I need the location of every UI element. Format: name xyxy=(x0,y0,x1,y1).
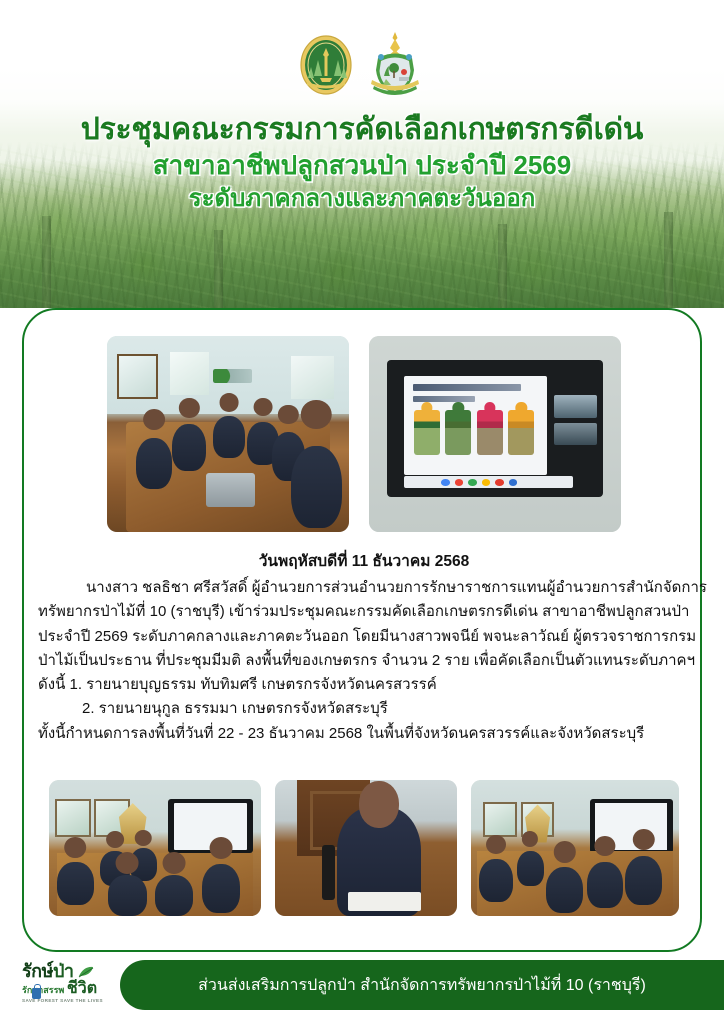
paragraph-line-1: นางสาว ชลธิชา ศรีสวัสดิ์ ผู้อำนวยการส่วน… xyxy=(38,576,690,600)
emblem-group xyxy=(0,30,724,96)
logo-cheewit: ชีวิต xyxy=(67,980,97,997)
list-item-2: 2. รายนายนุกูล ธรรมมา เกษตรกรจังหวัดสระบ… xyxy=(38,697,690,721)
meeting-room-table-photo xyxy=(107,336,349,532)
footer-banner: ส่วนส่งเสริมการปลูกป่า สำนักจัดการทรัพยา… xyxy=(120,960,724,1010)
meeting-wide-left-photo xyxy=(49,780,261,916)
paragraph-line-4: ป่าไม้เป็นประธาน ที่ประชุมมีมติ ลงพื้นที… xyxy=(38,649,690,673)
logo-rak-pa-b: ป่า xyxy=(53,961,74,981)
header-section: ประชุมคณะกรรมการคัดเลือกเกษตรกรดีเด่น สา… xyxy=(0,0,724,308)
page-title-line1: ประชุมคณะกรรมการคัดเลือกเกษตรกรดีเด่น xyxy=(0,112,724,147)
body-text-block: วันพฤหัสบดีที่ 11 ธันวาคม 2568 นางสาว ชล… xyxy=(24,548,704,746)
speaker-microphone-photo xyxy=(275,780,457,916)
body-paragraph: นางสาว ชลธิชา ศรีสวัสดิ์ ผู้อำนวยการส่วน… xyxy=(38,576,690,746)
page-title-line3: ระดับภาคกลางและภาคตะวันออก xyxy=(0,183,724,214)
paragraph-line-3: ประจำปี 2569 ระดับภาคกลางและภาคตะวันออก … xyxy=(38,625,690,649)
ministry-natural-resources-crest-icon xyxy=(364,30,426,96)
date-heading: วันพฤหัสบดีที่ 11 ธันวาคม 2568 xyxy=(38,548,690,573)
closing-line: ทั้งนี้กำหนดการลงพื้นที่วันที่ 22 - 23 ธ… xyxy=(38,722,690,746)
bottom-photo-row xyxy=(24,780,704,916)
top-photo-row xyxy=(24,336,704,532)
poster-root: ประชุมคณะกรรมการคัดเลือกเกษตรกรดีเด่น สา… xyxy=(0,0,724,1024)
logo-raksa-sappa: รักษาสรรพ xyxy=(22,985,64,995)
content-frame: วันพฤหัสบดีที่ 11 ธันวาคม 2568 นางสาว ชล… xyxy=(22,308,702,952)
presentation-screen-photo xyxy=(369,336,621,532)
logo-rak-pa-a: รักษ์ xyxy=(22,961,53,981)
page-title-line2: สาขาอาชีพปลูกสวนป่า ประจำปี 2569 xyxy=(0,149,724,183)
footer-banner-text: ส่วนส่งเสริมการปลูกป่า สำนักจัดการทรัพยา… xyxy=(198,973,646,998)
title-group: ประชุมคณะกรรมการคัดเลือกเกษตรกรดีเด่น สา… xyxy=(0,112,724,214)
list-item-1: ดังนี้ 1. รายนายบุญธรรม ทับทิมศรี เกษตรก… xyxy=(38,673,690,697)
lock-icon xyxy=(32,988,41,999)
leaf-icon xyxy=(78,966,94,978)
paragraph-line-2: ทรัพยากรป่าไม้ที่ 10 (ราชบุรี) เข้าร่วมป… xyxy=(38,600,690,624)
meeting-wide-right-photo xyxy=(471,780,679,916)
footer-section: รักษ์ป่า รักษาสรรพ ชีวิต SAVE FOREST SAV… xyxy=(0,960,724,1024)
royal-forest-department-seal-icon xyxy=(298,34,354,96)
